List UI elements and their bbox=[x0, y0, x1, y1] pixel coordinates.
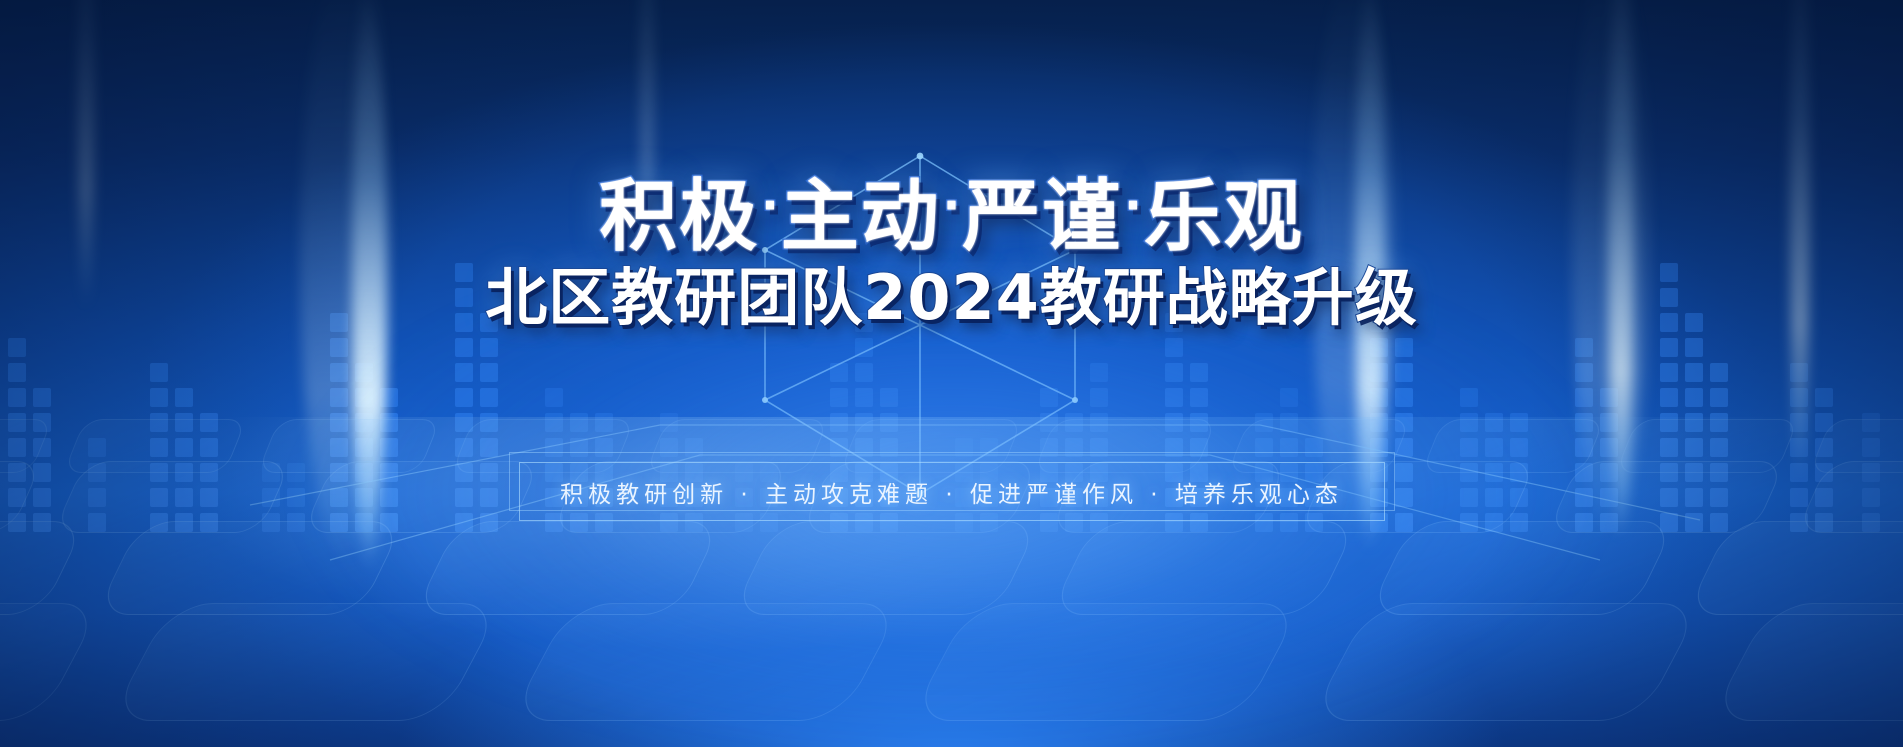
title-word: 主动 bbox=[781, 172, 941, 262]
title-word: 乐观 bbox=[1144, 172, 1304, 262]
title-separator-dot: · bbox=[941, 178, 962, 232]
slogan-text: 积极教研创新 · 主动攻克难题 · 促进严谨作风 · 培养乐观心态 bbox=[560, 475, 1343, 509]
title-word: 积极 bbox=[599, 172, 759, 262]
banner-title-primary: 积极·主动·严谨·乐观 bbox=[0, 178, 1903, 256]
title-separator-dot: · bbox=[759, 178, 780, 232]
banner-title-secondary: 北区教研团队2024教研战略升级 bbox=[0, 267, 1903, 329]
text-layer: 积极·主动·严谨·乐观 北区教研团队2024教研战略升级 积极教研创新 · 主动… bbox=[0, 0, 1903, 747]
slogan-frame-inner: 积极教研创新 · 主动攻克难题 · 促进严谨作风 · 培养乐观心态 bbox=[519, 462, 1385, 521]
title-separator-dot: · bbox=[1122, 178, 1143, 232]
banner-root: 积极·主动·严谨·乐观 北区教研团队2024教研战略升级 积极教研创新 · 主动… bbox=[0, 0, 1903, 747]
title-word: 严谨 bbox=[962, 172, 1122, 262]
